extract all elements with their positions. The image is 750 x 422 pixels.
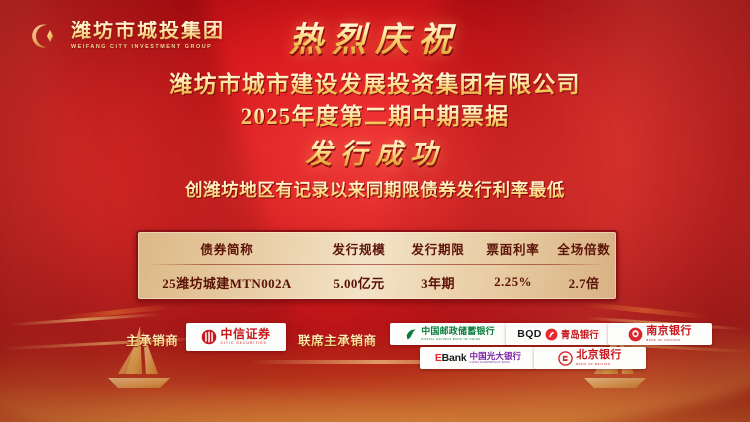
lead-underwriter-label: 主承销商 xyxy=(126,330,178,349)
citic-securities-logo-icon xyxy=(201,329,217,345)
headline-subtitle: 创潍坊地区有记录以来同期限债券发行利率最低 xyxy=(0,180,750,201)
beijing-name-en: BANK OF BEIJING xyxy=(576,363,611,366)
congratulations-title: 热烈庆祝 xyxy=(0,22,750,59)
column-header-term: 发行期限 xyxy=(402,239,474,258)
column-header-issue-size: 发行规模 xyxy=(316,239,402,258)
psbc-name-cn: 中国邮政储蓄银行 xyxy=(421,327,495,336)
cell-term: 3年期 xyxy=(402,273,474,292)
nanjing-name-cn: 南京银行 xyxy=(646,326,692,337)
column-header-coupon: 票面利率 xyxy=(474,239,552,258)
column-header-bond-name: 债券简称 xyxy=(138,239,316,258)
postal-savings-bank-logo-icon xyxy=(405,328,418,341)
nanjing-name-en: BANK OF NANJING xyxy=(646,339,681,342)
bqd-abbr: BQD xyxy=(517,328,542,340)
bond-details-table: 债券简称 发行规模 发行期限 票面利率 全场倍数 25潍坊城建MTN002A 5… xyxy=(136,230,618,301)
citic-name-cn: 中信证券 xyxy=(220,328,270,340)
cell-bond-name: 25潍坊城建MTN002A xyxy=(138,273,316,292)
underwriter-logo-china-everbright-bank: EBank 中国光大银行 CHINA EVERBRIGHT BANK xyxy=(420,347,536,369)
citic-name-en: CITIC SECURITIES xyxy=(220,342,266,346)
table-header-row: 债券简称 发行规模 发行期限 票面利率 全场倍数 xyxy=(138,232,616,264)
issuance-success-title: 发行成功 xyxy=(0,139,750,170)
bank-of-qingdao-logo-icon xyxy=(545,328,558,341)
beijing-name-cn: 北京银行 xyxy=(576,350,622,361)
underwriter-logo-citic-securities: 中信证券 CITIC SECURITIES xyxy=(186,323,286,351)
underwriter-logo-bank-of-nanjing: 南京银行 BANK OF NANJING xyxy=(608,323,712,345)
poster-canvas: 潍坊市城投集团 WEIFANG CITY INVESTMENT GROUP 热烈… xyxy=(0,0,750,422)
bank-of-beijing-logo-icon xyxy=(558,351,573,366)
everbright-name-en: CHINA EVERBRIGHT BANK xyxy=(470,362,511,365)
headline-block: 热烈庆祝 潍坊市城市建设发展投资集团有限公司 2025年度第二期中期票据 发行成… xyxy=(0,22,750,201)
company-full-name: 潍坊市城市建设发展投资集团有限公司 xyxy=(0,71,750,100)
column-header-oversub: 全场倍数 xyxy=(552,239,616,258)
underwriter-logo-postal-savings-bank: 中国邮政储蓄银行 POSTAL SAVINGS BANK OF CHINA xyxy=(390,323,510,345)
bqd-name-cn: 青岛银行 xyxy=(561,327,599,341)
underwriters-section: 主承销商 联席主承销商 中信证券 CITIC SECURITIES 中国邮 xyxy=(0,322,750,374)
cell-issue-size: 5.00亿元 xyxy=(316,273,402,292)
bond-issue-title: 2025年度第二期中期票据 xyxy=(0,103,750,132)
joint-underwriter-label: 联席主承销商 xyxy=(298,330,377,349)
bank-of-nanjing-logo-icon xyxy=(628,327,643,342)
cell-oversub: 2.7倍 xyxy=(552,273,616,292)
everbright-name-cn: 中国光大银行 xyxy=(470,352,522,361)
everbright-abbr: EBank xyxy=(435,352,467,364)
underwriter-logo-bank-of-beijing: 北京银行 BANK OF BEIJING xyxy=(534,347,646,369)
psbc-name-en: POSTAL SAVINGS BANK OF CHINA xyxy=(421,338,480,341)
table-row: 25潍坊城建MTN002A 5.00亿元 3年期 2.25% 2.7倍 xyxy=(138,265,616,299)
cell-coupon: 2.25% xyxy=(474,274,552,290)
underwriter-logo-bank-of-qingdao: BQD 青岛银行 xyxy=(506,323,610,345)
